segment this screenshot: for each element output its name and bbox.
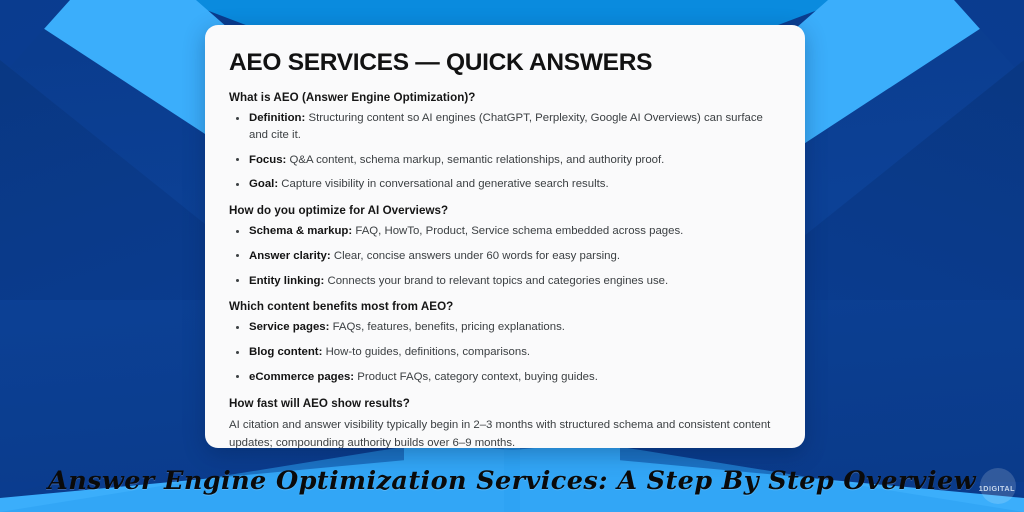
list-item: Definition: Structuring content so AI en… (247, 110, 779, 144)
list-item-label: Answer clarity: (249, 250, 331, 262)
qa-question: Which content benefits most from AEO? (229, 300, 779, 313)
list-item: Focus: Q&A content, schema markup, seman… (247, 152, 779, 169)
page-title: AEO SERVICES — QUICK ANSWERS (229, 49, 779, 77)
watermark-logo: 1DIGITAL (962, 472, 1018, 506)
list-item-text: How-to guides, definitions, comparisons. (326, 346, 531, 358)
qa-section: How fast will AEO show results? AI citat… (229, 397, 779, 448)
list-item-text: Structuring content so AI engines (ChatG… (249, 112, 763, 141)
list-item-label: Definition: (249, 112, 305, 124)
list-item-label: Focus: (249, 154, 286, 166)
content-card: AEO SERVICES — QUICK ANSWERS What is AEO… (205, 25, 805, 448)
list-item-text: FAQ, HowTo, Product, Service schema embe… (355, 225, 683, 237)
list-item: Entity linking: Connects your brand to r… (247, 273, 779, 290)
watermark-label: 1DIGITAL (979, 484, 1015, 493)
list-item-label: Goal: (249, 178, 278, 190)
list-item: Goal: Capture visibility in conversation… (247, 176, 779, 193)
list-item: Service pages: FAQs, features, benefits,… (247, 319, 779, 336)
list-item: Answer clarity: Clear, concise answers u… (247, 248, 779, 265)
list-item-label: Entity linking: (249, 275, 324, 287)
list-item-label: Blog content: (249, 346, 322, 358)
qa-bullet-list: Schema & markup: FAQ, HowTo, Product, Se… (229, 223, 779, 289)
qa-section: How do you optimize for AI Overviews? Sc… (229, 204, 779, 289)
list-item-label: Service pages: (249, 321, 329, 333)
list-item: Schema & markup: FAQ, HowTo, Product, Se… (247, 223, 779, 240)
slide-caption: Answer Engine Optimization Services: A S… (0, 466, 1024, 496)
list-item-label: eCommerce pages: (249, 371, 354, 383)
qa-question: How fast will AEO show results? (229, 397, 779, 410)
qa-bullet-list: Service pages: FAQs, features, benefits,… (229, 319, 779, 385)
list-item-text: Clear, concise answers under 60 words fo… (334, 250, 620, 262)
qa-answer-paragraph: AI citation and answer visibility typica… (229, 416, 779, 448)
qa-bullet-list: Definition: Structuring content so AI en… (229, 110, 779, 193)
slide-canvas: AEO SERVICES — QUICK ANSWERS What is AEO… (0, 0, 1024, 512)
list-item-text: FAQs, features, benefits, pricing explan… (333, 321, 565, 333)
qa-section: What is AEO (Answer Engine Optimization)… (229, 91, 779, 193)
qa-section: Which content benefits most from AEO? Se… (229, 300, 779, 385)
list-item: eCommerce pages: Product FAQs, category … (247, 369, 779, 386)
list-item-text: Capture visibility in conversational and… (281, 178, 608, 190)
qa-question: What is AEO (Answer Engine Optimization)… (229, 91, 779, 104)
list-item-text: Q&A content, schema markup, semantic rel… (290, 154, 665, 166)
qa-question: How do you optimize for AI Overviews? (229, 204, 779, 217)
list-item-text: Product FAQs, category context, buying g… (357, 371, 598, 383)
list-item-label: Schema & markup: (249, 225, 352, 237)
list-item-text: Connects your brand to relevant topics a… (327, 275, 668, 287)
list-item: Blog content: How-to guides, definitions… (247, 344, 779, 361)
